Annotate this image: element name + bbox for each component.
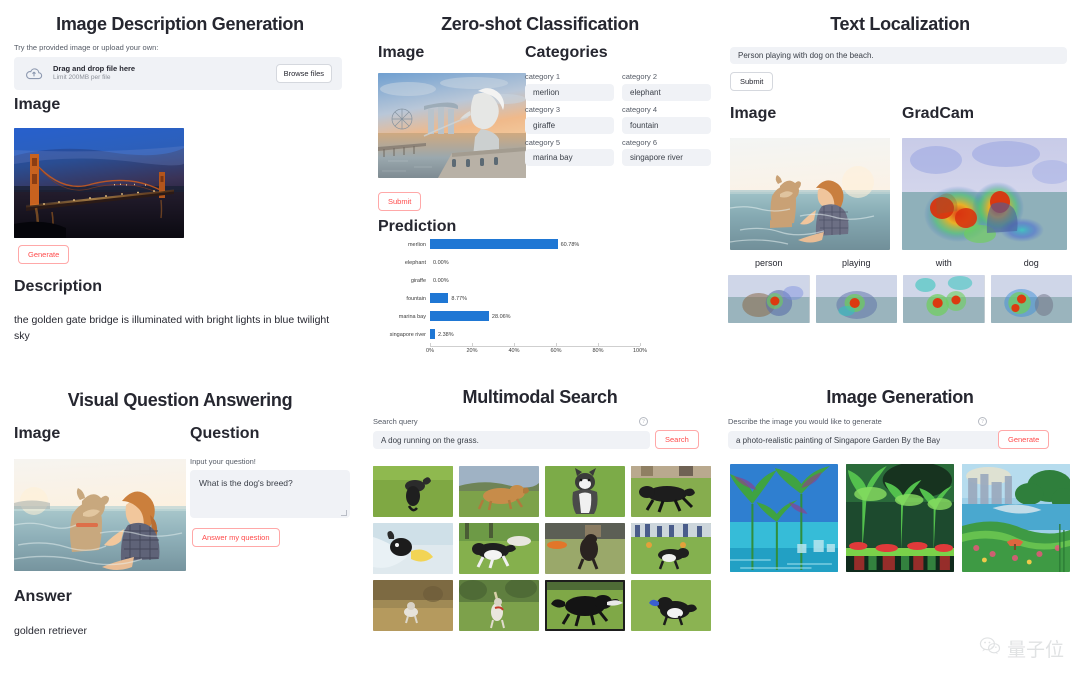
generated-image-2 — [846, 464, 954, 572]
chart-ylabel-4: marina bay — [378, 314, 426, 320]
vqa-question-value: What is the dog's breed? — [199, 478, 293, 488]
vqa-question-heading: Question — [190, 425, 259, 443]
panel-text-localization: Text Localization Person playing with do… — [720, 0, 1080, 370]
search-result-8[interactable] — [631, 523, 711, 574]
search-result-3[interactable] — [545, 466, 625, 517]
chart-value-singapore-river: 2.38% — [438, 332, 454, 338]
page-title-text-localization: Text Localization — [720, 14, 1080, 35]
chart-xtick-label-2: 40% — [500, 348, 528, 354]
search-button[interactable]: Search — [655, 430, 699, 449]
word-tile-person: person — [728, 258, 810, 323]
chart-tick-4 — [598, 343, 599, 346]
word-tile-with: with — [903, 258, 985, 323]
chart-value-giraffe: 0.00% — [433, 278, 449, 284]
chart-xtick-label-4: 80% — [584, 348, 612, 354]
category-field-6: category 6 singapore river — [622, 138, 711, 167]
chart-value-elephant: 0.00% — [433, 260, 449, 266]
panel-multimodal-search: Multimodal Search Search query ? A dog r… — [365, 376, 715, 684]
vqa-answer-text: golden retriever — [14, 623, 87, 639]
chart-ylabel-3: fountain — [378, 296, 426, 302]
chart-x-axis — [430, 346, 640, 347]
description-heading: Description — [14, 278, 102, 296]
generate-image-button[interactable]: Generate — [998, 430, 1049, 449]
help-circle-icon-generation[interactable]: ? — [978, 417, 987, 426]
chart-bar-singapore-river — [430, 329, 435, 339]
search-result-9[interactable] — [373, 580, 453, 631]
generated-image-1 — [730, 464, 838, 572]
category-3-input[interactable]: giraffe — [525, 117, 614, 134]
generation-prompt-input[interactable]: a photo-realistic painting of Singapore … — [728, 431, 1006, 449]
word-label-dog: dog — [991, 258, 1073, 268]
search-query-label: Search query — [373, 417, 418, 427]
help-circle-icon[interactable]: ? — [639, 417, 648, 426]
category-field-1: category 1 merlion — [525, 72, 614, 101]
category-field-4: category 4 fountain — [622, 105, 711, 134]
category-5-label: category 5 — [525, 138, 614, 148]
category-2-label: category 2 — [622, 72, 711, 82]
vqa-answer-heading: Answer — [14, 588, 72, 606]
prediction-bar-chart: merlion elephant giraffe fountain marina… — [378, 238, 708, 358]
word-label-with: with — [903, 258, 985, 268]
generated-images-row — [730, 464, 1070, 572]
chart-value-fountain: 8.77% — [451, 296, 467, 302]
category-6-label: category 6 — [622, 138, 711, 148]
page-title-image-description: Image Description Generation — [0, 14, 360, 35]
generation-prompt-label: Describe the image you would like to gen… — [728, 417, 882, 427]
answer-question-button[interactable]: Answer my question — [192, 528, 280, 547]
chart-bar-merlion — [430, 239, 558, 249]
file-uploader[interactable]: Drag and drop file here Limit 200MB per … — [14, 57, 342, 90]
chart-ylabel-5: singapore river — [378, 332, 426, 338]
browse-files-button[interactable]: Browse files — [276, 64, 332, 83]
beach-dog-image — [730, 138, 890, 250]
zeroshot-submit-button[interactable]: Submit — [378, 192, 421, 211]
gradcam-tile-dog — [991, 275, 1073, 323]
app-root: Image Description Generation Try the pro… — [0, 0, 1080, 684]
search-result-2[interactable] — [459, 466, 539, 517]
zeroshot-categories-heading: Categories — [525, 44, 608, 62]
chart-tick-2 — [514, 343, 515, 346]
search-query-input[interactable]: A dog running on the grass. — [373, 431, 650, 449]
panel-vqa: Visual Question Answering Image Question — [0, 376, 360, 684]
gradcam-image — [902, 138, 1067, 250]
merlion-image — [378, 73, 526, 178]
resize-grip-icon[interactable] — [341, 510, 347, 516]
vqa-dog-image — [14, 459, 186, 571]
category-3-label: category 3 — [525, 105, 614, 115]
golden-gate-bridge-image — [14, 128, 184, 238]
gradcam-tile-person — [728, 275, 810, 323]
chart-value-merlion: 60.78% — [561, 242, 580, 248]
vqa-image-heading: Image — [14, 425, 60, 443]
chart-xtick-label-1: 20% — [458, 348, 486, 354]
chart-tick-0 — [430, 343, 431, 346]
word-label-playing: playing — [816, 258, 898, 268]
gradcam-word-tiles: person playing — [728, 258, 1072, 323]
search-result-10[interactable] — [459, 580, 539, 631]
chart-xtick-label-3: 60% — [542, 348, 570, 354]
page-title-zero-shot: Zero-shot Classification — [365, 14, 715, 35]
generate-description-button[interactable]: Generate — [18, 245, 69, 264]
chart-ylabel-2: giraffe — [378, 278, 426, 284]
uploader-main-text: Drag and drop file here — [53, 64, 267, 74]
chart-tick-1 — [472, 343, 473, 346]
uploader-limit-text: Limit 200MB per file — [53, 74, 267, 83]
wechat-icon — [979, 635, 1001, 662]
word-tile-playing: playing — [816, 258, 898, 323]
search-results-grid — [373, 466, 711, 631]
category-field-5: category 5 marina bay — [525, 138, 614, 167]
panel-image-description: Image Description Generation Try the pro… — [0, 0, 360, 370]
category-5-input[interactable]: marina bay — [525, 149, 614, 166]
watermark-text: 量子位 — [1007, 635, 1064, 662]
search-result-12[interactable] — [631, 580, 711, 631]
description-text: the golden gate bridge is illuminated wi… — [14, 312, 344, 345]
chart-xtick-label-0: 0% — [416, 348, 444, 354]
gradcam-tile-playing — [816, 275, 898, 323]
localization-query-input[interactable]: Person playing with dog on the beach. — [730, 47, 1067, 64]
chart-xtick-label-5: 100% — [626, 348, 654, 354]
localization-image-heading: Image — [730, 105, 776, 123]
generated-image-3 — [962, 464, 1070, 572]
search-result-6[interactable] — [459, 523, 539, 574]
vqa-question-label: Input your question! — [190, 457, 256, 467]
search-result-4[interactable] — [631, 466, 711, 517]
chart-value-marina-bay: 28.06% — [492, 314, 511, 320]
category-4-input[interactable]: fountain — [622, 117, 711, 134]
category-2-input[interactable]: elephant — [622, 84, 711, 101]
chart-ylabel-0: merlion — [378, 242, 426, 248]
uploader-text: Drag and drop file here Limit 200MB per … — [53, 64, 267, 83]
gradcam-heading: GradCam — [902, 105, 974, 123]
chart-bar-marina-bay — [430, 311, 489, 321]
prediction-heading: Prediction — [378, 218, 456, 236]
zeroshot-image-heading: Image — [378, 44, 424, 62]
category-field-3: category 3 giraffe — [525, 105, 614, 134]
page-title-vqa: Visual Question Answering — [0, 390, 360, 411]
search-result-5[interactable] — [373, 523, 453, 574]
word-tile-dog: dog — [991, 258, 1073, 323]
watermark: 量子位 — [979, 635, 1064, 662]
search-result-7[interactable] — [545, 523, 625, 574]
panel-zero-shot: Zero-shot Classification Image Categorie… — [365, 0, 715, 370]
category-4-label: category 4 — [622, 105, 711, 115]
category-1-input[interactable]: merlion — [525, 84, 614, 101]
word-label-person: person — [728, 258, 810, 268]
search-result-11-selected[interactable] — [545, 580, 625, 631]
category-6-input[interactable]: singapore river — [622, 149, 711, 166]
chart-ylabel-1: elephant — [378, 260, 426, 266]
vqa-question-textarea[interactable]: What is the dog's breed? — [190, 470, 350, 518]
category-field-2: category 2 elephant — [622, 72, 711, 101]
category-fields: category 1 merlion category 2 elephant c… — [525, 72, 711, 166]
gradcam-tile-with — [903, 275, 985, 323]
cloud-upload-icon — [24, 64, 44, 84]
chart-tick-3 — [556, 343, 557, 346]
image-heading: Image — [14, 96, 60, 114]
upload-hint: Try the provided image or upload your ow… — [14, 43, 158, 53]
category-1-label: category 1 — [525, 72, 614, 82]
page-title-image-generation: Image Generation — [720, 387, 1080, 408]
localization-submit-button[interactable]: Submit — [730, 72, 773, 91]
chart-tick-5 — [640, 343, 641, 346]
page-title-multimodal-search: Multimodal Search — [365, 387, 715, 408]
chart-bar-fountain — [430, 293, 448, 303]
search-result-1[interactable] — [373, 466, 453, 517]
